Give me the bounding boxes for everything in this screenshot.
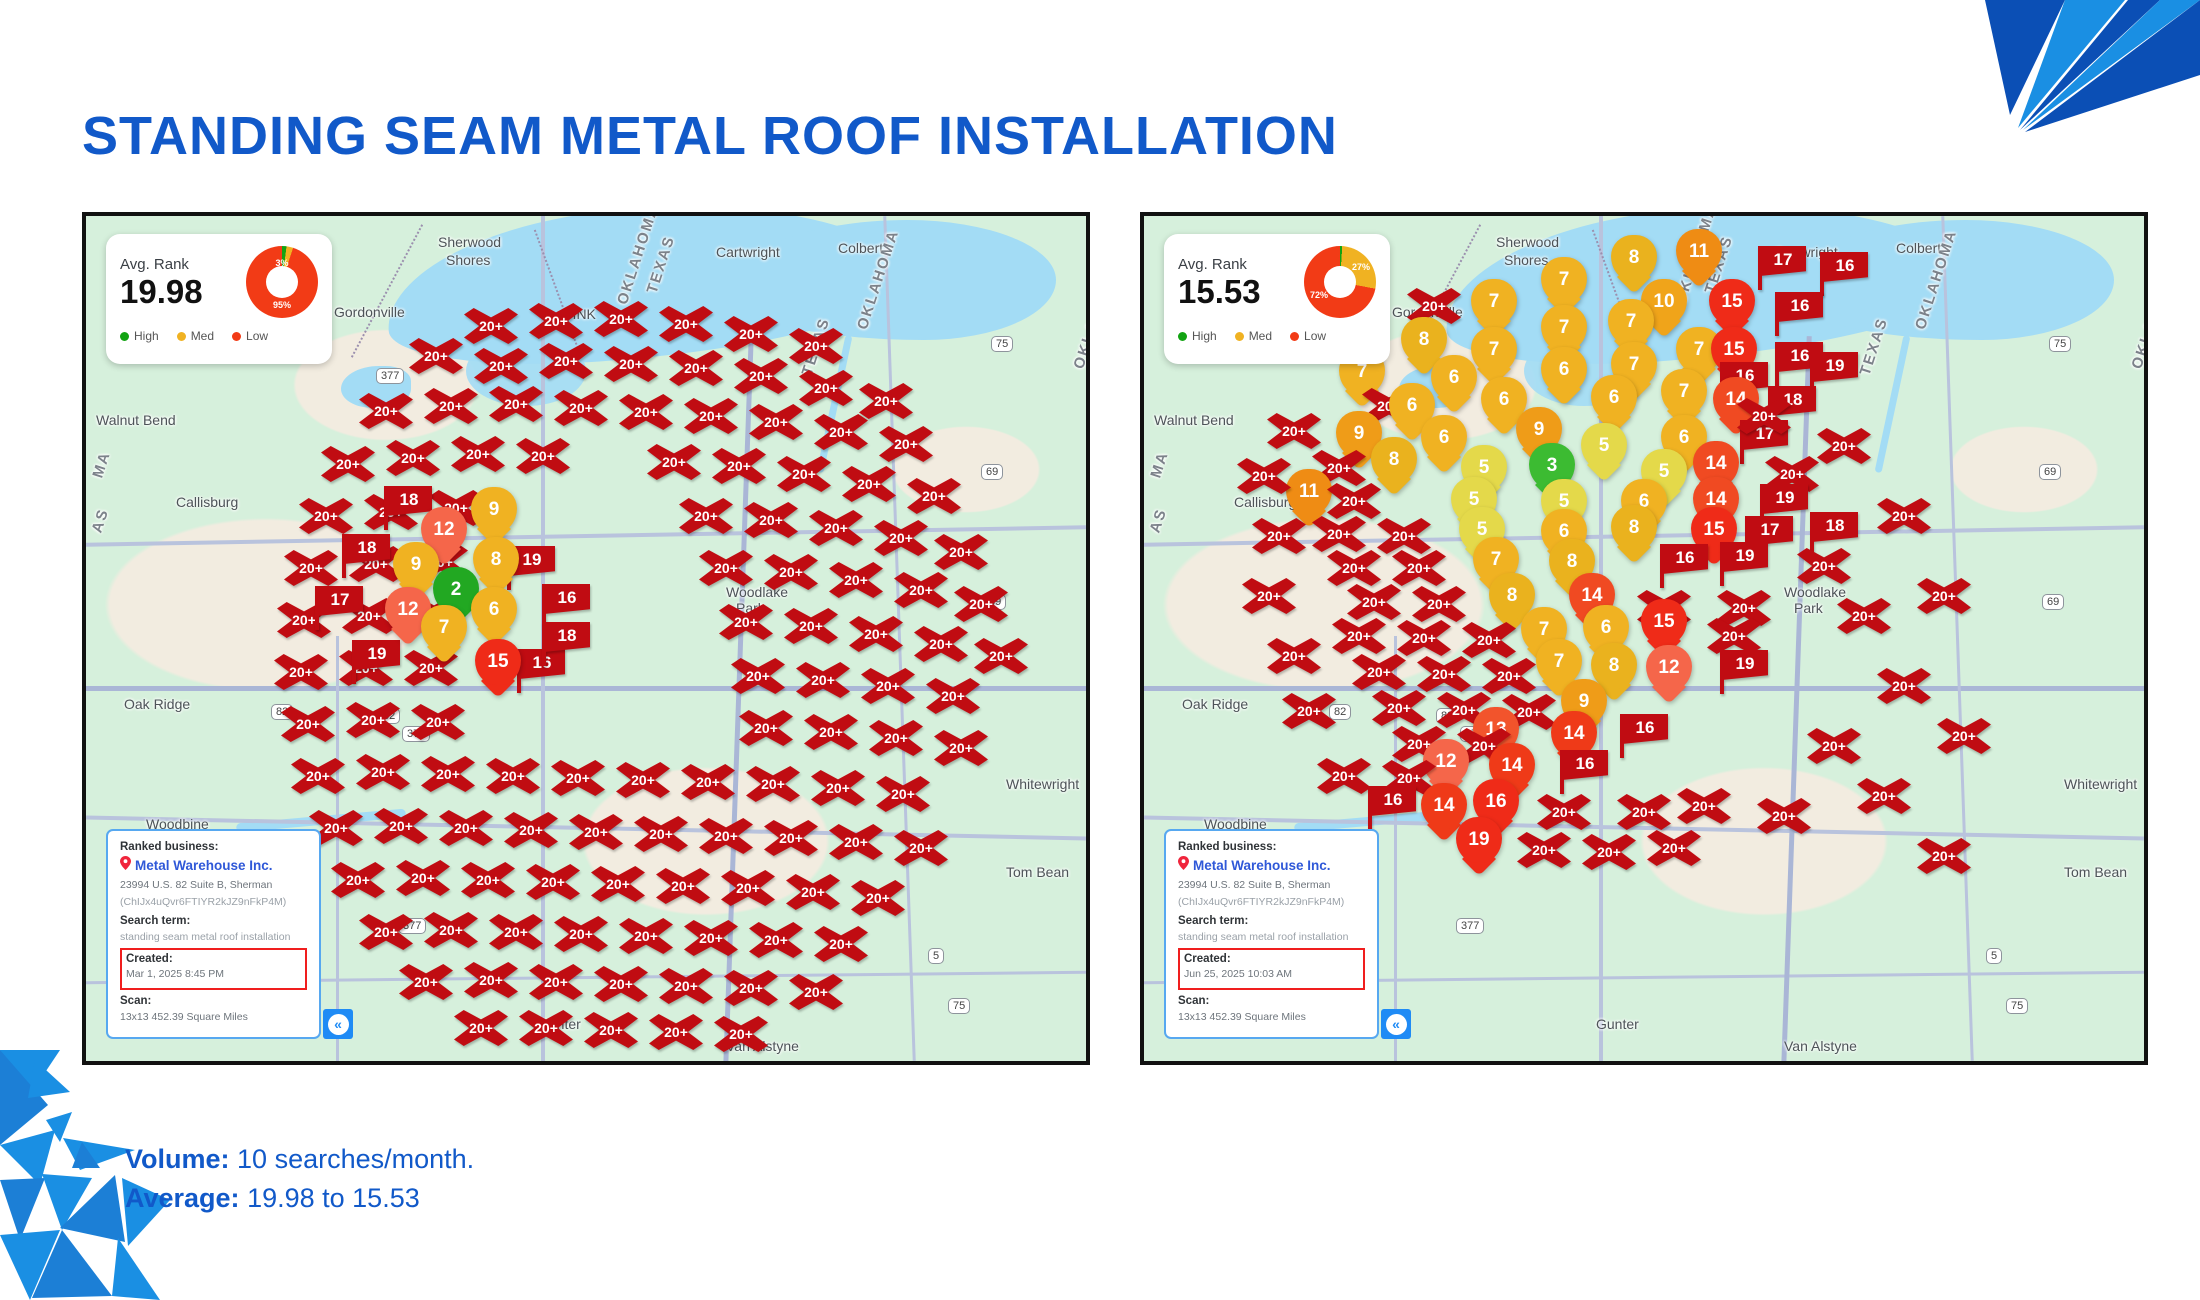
map-marker-beyond-top20[interactable]: 20+: [526, 864, 580, 900]
map-marker-flag[interactable]: 18: [540, 622, 592, 666]
map-marker-beyond-top20[interactable]: 20+: [1417, 656, 1471, 692]
collapse-panel-button[interactable]: «: [323, 1009, 353, 1039]
map-marker-beyond-top20[interactable]: 20+: [331, 862, 385, 898]
map-marker-beyond-top20[interactable]: 20+: [907, 478, 961, 514]
marker-value: 20+: [489, 358, 513, 374]
marker-value: 20+: [884, 730, 908, 746]
map-marker-beyond-top20[interactable]: 20+: [1917, 578, 1971, 614]
map-marker-beyond-top20[interactable]: 20+: [829, 824, 883, 860]
marker-value: 20+: [414, 974, 438, 990]
map-marker-beyond-top20[interactable]: 20+: [1817, 428, 1871, 464]
map-marker-beyond-top20[interactable]: 20+: [669, 350, 723, 386]
map-marker-rank-pin[interactable]: 12: [1646, 645, 1692, 703]
road: [1941, 216, 1973, 1061]
map-marker-beyond-top20[interactable]: 20+: [799, 370, 853, 406]
map-marker-beyond-top20[interactable]: 20+: [724, 316, 778, 352]
marker-value: 7: [1661, 369, 1707, 415]
map-marker-beyond-top20[interactable]: 20+: [1397, 620, 1451, 656]
map-marker-rank-pin[interactable]: 6: [1431, 355, 1477, 413]
created-label: Created:: [126, 953, 301, 965]
marker-value: 20+: [1932, 588, 1956, 604]
map-marker-flag[interactable]: 19: [1718, 542, 1770, 586]
map-marker-rank-pin[interactable]: 6: [1541, 347, 1587, 405]
map-marker-flag[interactable]: 16: [1818, 252, 1870, 296]
map-place-label: Tom Bean: [1006, 864, 1069, 880]
map-marker-beyond-top20[interactable]: 20+: [1857, 778, 1911, 814]
map-marker-beyond-top20[interactable]: 20+: [804, 714, 858, 750]
marker-value: 20+: [1722, 628, 1746, 644]
marker-value: 19: [1736, 546, 1755, 566]
marker-value: 20+: [1257, 588, 1281, 604]
map-marker-beyond-top20[interactable]: 20+: [291, 758, 345, 794]
map-marker-beyond-top20[interactable]: 20+: [714, 1016, 768, 1052]
map-marker-beyond-top20[interactable]: 20+: [1647, 830, 1701, 866]
map-marker-beyond-top20[interactable]: 20+: [1282, 693, 1336, 729]
map-marker-beyond-top20[interactable]: 20+: [281, 706, 335, 742]
map-marker-beyond-top20[interactable]: 20+: [1377, 518, 1431, 554]
avg-rank-card: Avg. Rank 19.98 3% 95% High Med Low: [106, 234, 332, 364]
map-marker-beyond-top20[interactable]: 20+: [1877, 668, 1931, 704]
map-marker-beyond-top20[interactable]: 20+: [869, 720, 923, 756]
marker-value: 20+: [606, 876, 630, 892]
map-marker-beyond-top20[interactable]: 20+: [396, 860, 450, 896]
map-marker-beyond-top20[interactable]: 20+: [829, 562, 883, 598]
marker-value: 20+: [826, 780, 850, 796]
map-marker-beyond-top20[interactable]: 20+: [721, 870, 775, 906]
business-place-id: (ChIJx4uQvr6FTIYR2kJZ9nFkP4M): [1178, 895, 1365, 910]
map-marker-beyond-top20[interactable]: 20+: [954, 586, 1008, 622]
map-marker-flag[interactable]: 16: [1558, 750, 1610, 794]
map-marker-beyond-top20[interactable]: 20+: [439, 810, 493, 846]
map-marker-beyond-top20[interactable]: 20+: [616, 762, 670, 798]
marker-value: 20+: [296, 716, 320, 732]
flag-icon: 16: [1777, 292, 1823, 322]
created-highlight-box: Created: Mar 1, 2025 8:45 PM: [120, 948, 307, 990]
marker-value: 7: [1471, 327, 1517, 373]
map-marker-flag[interactable]: 17: [1756, 246, 1808, 290]
map-marker-beyond-top20[interactable]: 20+: [346, 702, 400, 738]
page-title: STANDING SEAM METAL ROOF INSTALLATION: [82, 105, 1338, 167]
marker-value: 20+: [799, 618, 823, 634]
map-marker-rank-pin[interactable]: 8: [1611, 505, 1657, 563]
map-marker-beyond-top20[interactable]: 20+: [399, 964, 453, 1000]
marker-value: 20+: [874, 393, 898, 409]
marker-value: 20+: [876, 678, 900, 694]
map-place-label: Oak Ridge: [1182, 696, 1248, 712]
map-marker-beyond-top20[interactable]: 20+: [359, 393, 413, 429]
map-marker-rank-pin[interactable]: 6: [471, 587, 517, 645]
business-row[interactable]: Metal Warehouse Inc.: [1178, 856, 1365, 875]
map-marker-beyond-top20[interactable]: 20+: [299, 498, 353, 534]
marker-value: 20+: [1892, 508, 1916, 524]
legend-item-low: Low: [1290, 329, 1326, 343]
map-marker-beyond-top20[interactable]: 20+: [1757, 798, 1811, 834]
map-marker-beyond-top20[interactable]: 20+: [1737, 398, 1791, 434]
map-marker-beyond-top20[interactable]: 20+: [809, 510, 863, 546]
map-marker-beyond-top20[interactable]: 20+: [814, 414, 868, 450]
marker-value: 20+: [649, 826, 673, 842]
collapse-panel-button[interactable]: «: [1381, 1009, 1411, 1039]
map-marker-beyond-top20[interactable]: 20+: [421, 756, 475, 792]
road: [1144, 686, 2144, 691]
map-marker-beyond-top20[interactable]: 20+: [321, 446, 375, 482]
map-marker-beyond-top20[interactable]: 20+: [724, 970, 778, 1006]
marker-value: 20+: [374, 924, 398, 940]
created-value: Mar 1, 2025 8:45 PM: [126, 967, 301, 982]
marker-value: 8: [1611, 235, 1657, 281]
legend-label-med: Med: [1249, 329, 1272, 343]
legend-dot-low: [232, 332, 241, 341]
map-marker-beyond-top20[interactable]: 20+: [411, 704, 465, 740]
map-marker-beyond-top20[interactable]: 20+: [784, 608, 838, 644]
marker-value: 20+: [1892, 678, 1916, 694]
map-marker-beyond-top20[interactable]: 20+: [359, 914, 413, 950]
map-marker-beyond-top20[interactable]: 20+: [454, 1010, 508, 1046]
map-marker-beyond-top20[interactable]: 20+: [861, 668, 915, 704]
route-shield: 75: [991, 336, 1013, 352]
map-marker-beyond-top20[interactable]: 20+: [1462, 622, 1516, 658]
legend-dot-low: [1290, 332, 1299, 341]
map-marker-beyond-top20[interactable]: 20+: [356, 754, 410, 790]
marker-value: 20+: [439, 398, 463, 414]
map-marker-flag[interactable]: 19: [350, 640, 402, 684]
map-marker-beyond-top20[interactable]: 20+: [594, 301, 648, 337]
map-panel-before[interactable]: SherwoodShoresCartwrightColbertGordonvil…: [82, 212, 1090, 1065]
marker-value: 20+: [389, 818, 413, 834]
map-marker-beyond-top20[interactable]: 20+: [789, 974, 843, 1010]
road: [336, 636, 339, 1061]
map-marker-beyond-top20[interactable]: 20+: [974, 638, 1028, 674]
map-marker-beyond-top20[interactable]: 20+: [746, 766, 800, 802]
marker-value: 16: [1676, 548, 1695, 568]
map-marker-beyond-top20[interactable]: 20+: [516, 438, 570, 474]
map-marker-beyond-top20[interactable]: 20+: [679, 498, 733, 534]
map-marker-beyond-top20[interactable]: 20+: [1267, 413, 1321, 449]
map-marker-beyond-top20[interactable]: 20+: [591, 866, 645, 902]
map-marker-beyond-top20[interactable]: 20+: [1877, 498, 1931, 534]
marker-value: 20+: [1392, 528, 1416, 544]
map-marker-beyond-top20[interactable]: 20+: [1242, 578, 1296, 614]
marker-value: 20+: [479, 972, 503, 988]
map-marker-rank-pin[interactable]: 15: [475, 639, 521, 697]
map-marker-beyond-top20[interactable]: 20+: [529, 303, 583, 339]
map-marker-beyond-top20[interactable]: 20+: [1807, 728, 1861, 764]
marker-value: 20+: [734, 614, 758, 630]
map-marker-beyond-top20[interactable]: 20+: [554, 390, 608, 426]
marker-value: 20+: [411, 870, 435, 886]
map-marker-beyond-top20[interactable]: 20+: [934, 730, 988, 766]
map-marker-flag[interactable]: 19: [1718, 650, 1770, 694]
business-name[interactable]: Metal Warehouse Inc.: [1193, 858, 1331, 873]
marker-value: 20+: [1477, 632, 1501, 648]
marker-value: 18: [400, 490, 419, 510]
marker-value: 20+: [1412, 630, 1436, 646]
map-place-label: Gordonville: [334, 304, 405, 320]
map-marker-beyond-top20[interactable]: 20+: [569, 814, 623, 850]
map-marker-beyond-top20[interactable]: 20+: [634, 816, 688, 852]
route-shield: 75: [2049, 336, 2071, 352]
map-marker-beyond-top20[interactable]: 20+: [284, 550, 338, 586]
business-name[interactable]: Metal Warehouse Inc.: [135, 858, 273, 873]
route-shield: 75: [948, 998, 970, 1014]
search-term-label: Search term:: [120, 915, 307, 927]
marker-value: 20+: [662, 454, 686, 470]
marker-value: 20+: [894, 436, 918, 452]
map-marker-flag[interactable]: 18: [340, 534, 392, 578]
map-marker-beyond-top20[interactable]: 20+: [551, 760, 605, 796]
legend-label-high: High: [1192, 329, 1217, 343]
flag-icon: 19: [1812, 352, 1858, 382]
map-marker-beyond-top20[interactable]: 20+: [554, 916, 608, 952]
map-marker-beyond-top20[interactable]: 20+: [1392, 550, 1446, 586]
map-marker-beyond-top20[interactable]: 20+: [894, 572, 948, 608]
map-marker-beyond-top20[interactable]: 20+: [1237, 458, 1291, 494]
marker-value: 20+: [761, 776, 785, 792]
marker-value: 20+: [401, 450, 425, 466]
map-marker-beyond-top20[interactable]: 20+: [1317, 758, 1371, 794]
map-marker-beyond-top20[interactable]: 20+: [811, 770, 865, 806]
map-marker-beyond-top20[interactable]: 20+: [424, 912, 478, 948]
marker-value: 15: [1709, 279, 1755, 325]
map-marker-beyond-top20[interactable]: 20+: [584, 1012, 638, 1048]
marker-value: 20+: [1532, 842, 1556, 858]
map-marker-beyond-top20[interactable]: 20+: [1352, 654, 1406, 690]
map-marker-beyond-top20[interactable]: 20+: [659, 306, 713, 342]
map-marker-beyond-top20[interactable]: 20+: [934, 534, 988, 570]
marker-value: 16: [1636, 718, 1655, 738]
map-marker-beyond-top20[interactable]: 20+: [684, 398, 738, 434]
map-marker-beyond-top20[interactable]: 20+: [876, 776, 930, 812]
marker-value: 20+: [454, 820, 478, 836]
marker-value: 20+: [949, 544, 973, 560]
map-marker-beyond-top20[interactable]: 20+: [649, 1014, 703, 1050]
map-marker-beyond-top20[interactable]: 20+: [464, 308, 518, 344]
map-panel-after[interactable]: SherwoodShoresCartwrightColbertGordonvil…: [1140, 212, 2148, 1065]
legend-item-med: Med: [1235, 329, 1272, 343]
map-marker-beyond-top20[interactable]: 20+: [681, 764, 735, 800]
map-marker-beyond-top20[interactable]: 20+: [529, 964, 583, 1000]
map-marker-beyond-top20[interactable]: 20+: [1482, 658, 1536, 694]
map-marker-beyond-top20[interactable]: 20+: [409, 338, 463, 374]
map-marker-beyond-top20[interactable]: 20+: [749, 922, 803, 958]
route-shield: 69: [2042, 594, 2064, 610]
marker-value: 20+: [436, 766, 460, 782]
marker-value: 20+: [891, 786, 915, 802]
marker-value: 16: [1791, 346, 1810, 366]
map-marker-beyond-top20[interactable]: 20+: [699, 818, 753, 854]
map-marker-beyond-top20[interactable]: 20+: [764, 820, 818, 856]
map-place-label: Van Alstyne: [1784, 1038, 1857, 1054]
map-place-label: Tom Bean: [2064, 864, 2127, 880]
marker-value: 20+: [1812, 558, 1836, 574]
map-marker-beyond-top20[interactable]: 20+: [461, 862, 515, 898]
marker-value: 5: [1581, 423, 1627, 469]
map-marker-beyond-top20[interactable]: 20+: [489, 386, 543, 422]
map-marker-beyond-top20[interactable]: 20+: [1707, 618, 1761, 654]
map-marker-beyond-top20[interactable]: 20+: [619, 394, 673, 430]
map-marker-beyond-top20[interactable]: 20+: [489, 914, 543, 950]
marker-value: 20+: [466, 446, 490, 462]
map-marker-beyond-top20[interactable]: 20+: [464, 962, 518, 998]
flag-icon: 16: [1370, 786, 1416, 816]
map-marker-rank-pin[interactable]: 7: [421, 605, 467, 663]
marker-value: 20+: [727, 458, 751, 474]
map-marker-beyond-top20[interactable]: 20+: [451, 436, 505, 472]
marker-value: 20+: [1342, 493, 1366, 509]
map-marker-beyond-top20[interactable]: 20+: [926, 678, 980, 714]
marker-value: 20+: [819, 724, 843, 740]
flag-icon: 16: [1562, 750, 1608, 780]
map-marker-beyond-top20[interactable]: 20+: [1412, 586, 1466, 622]
map-marker-beyond-top20[interactable]: 20+: [604, 346, 658, 382]
map-marker-flag[interactable]: 16: [1773, 292, 1825, 336]
map-marker-beyond-top20[interactable]: 20+: [749, 404, 803, 440]
marker-value: 17: [1761, 520, 1780, 540]
map-marker-beyond-top20[interactable]: 20+: [914, 626, 968, 662]
map-marker-beyond-top20[interactable]: 20+: [1617, 794, 1671, 830]
donut-low-pct: 72%: [1310, 290, 1328, 300]
marker-value: 20+: [566, 770, 590, 786]
map-marker-beyond-top20[interactable]: 20+: [474, 348, 528, 384]
marker-value: 11: [1676, 229, 1722, 275]
map-marker-flag[interactable]: 16: [1366, 786, 1418, 830]
map-marker-beyond-top20[interactable]: 20+: [1917, 838, 1971, 874]
marker-value: 20+: [531, 448, 555, 464]
map-marker-flag[interactable]: 16: [1658, 544, 1710, 588]
map-marker-beyond-top20[interactable]: 20+: [504, 812, 558, 848]
marker-value: 20+: [346, 872, 370, 888]
marker-value: 20+: [619, 356, 643, 372]
marker-value: 7: [421, 605, 467, 651]
map-marker-beyond-top20[interactable]: 20+: [699, 550, 753, 586]
map-marker-beyond-top20[interactable]: 20+: [1582, 834, 1636, 870]
map-marker-beyond-top20[interactable]: 20+: [744, 502, 798, 538]
marker-value: 20+: [299, 560, 323, 576]
flag-icon: 18: [1812, 512, 1858, 542]
map-marker-beyond-top20[interactable]: 20+: [814, 926, 868, 962]
scan-label: Scan:: [1178, 995, 1365, 1007]
map-marker-beyond-top20[interactable]: 20+: [594, 966, 648, 1002]
map-marker-beyond-top20[interactable]: 20+: [539, 343, 593, 379]
map-marker-beyond-top20[interactable]: 20+: [731, 658, 785, 694]
map-marker-beyond-top20[interactable]: 20+: [734, 358, 788, 394]
ranked-business-label: Ranked business:: [120, 841, 307, 853]
map-marker-beyond-top20[interactable]: 20+: [1332, 618, 1386, 654]
marker-value: 20+: [569, 926, 593, 942]
map-marker-beyond-top20[interactable]: 20+: [659, 968, 713, 1004]
donut-med-pct: 3%: [275, 258, 288, 268]
map-marker-flag[interactable]: 16: [1618, 714, 1670, 758]
map-marker-beyond-top20[interactable]: 20+: [851, 880, 905, 916]
map-marker-beyond-top20[interactable]: 20+: [619, 918, 673, 954]
map-marker-beyond-top20[interactable]: 20+: [1837, 598, 1891, 634]
map-marker-beyond-top20[interactable]: 20+: [849, 616, 903, 652]
map-marker-beyond-top20[interactable]: 20+: [1517, 832, 1571, 868]
map-place-label: Whitewright: [2064, 776, 2137, 792]
legend-dot-high: [120, 332, 129, 341]
map-marker-beyond-top20[interactable]: 20+: [712, 448, 766, 484]
avg-rank-card: Avg. Rank 15.53 27% 72% High Med Low: [1164, 234, 1390, 364]
map-marker-beyond-top20[interactable]: 20+: [424, 388, 478, 424]
marker-value: 20+: [1732, 600, 1756, 616]
marker-value: 20+: [1267, 528, 1291, 544]
map-marker-beyond-top20[interactable]: 20+: [486, 758, 540, 794]
map-marker-beyond-top20[interactable]: 20+: [1327, 550, 1381, 586]
map-marker-beyond-top20[interactable]: 20+: [719, 604, 773, 640]
map-marker-beyond-top20[interactable]: 20+: [764, 554, 818, 590]
legend-item-high: High: [120, 329, 159, 343]
legend-label-low: Low: [1304, 329, 1326, 343]
marker-value: 20+: [909, 840, 933, 856]
map-place-label: Shores: [446, 252, 490, 268]
map-place-label: Oak Ridge: [124, 696, 190, 712]
map-marker-beyond-top20[interactable]: 20+: [1537, 794, 1591, 830]
map-marker-beyond-top20[interactable]: 20+: [796, 662, 850, 698]
business-row[interactable]: Metal Warehouse Inc.: [120, 856, 307, 875]
map-marker-beyond-top20[interactable]: 20+: [1267, 638, 1321, 674]
marker-value: 20+: [754, 720, 778, 736]
map-marker-beyond-top20[interactable]: 20+: [842, 466, 896, 502]
marker-value: 20+: [519, 822, 543, 838]
map-marker-beyond-top20[interactable]: 20+: [656, 868, 710, 904]
marker-value: 20+: [824, 520, 848, 536]
map-marker-beyond-top20[interactable]: 20+: [1372, 690, 1426, 726]
map-marker-beyond-top20[interactable]: 20+: [274, 654, 328, 690]
marker-value: 20+: [699, 930, 723, 946]
map-place-label: Walnut Bend: [1154, 412, 1234, 428]
marker-value: 16: [558, 588, 577, 608]
marker-value: 11: [1286, 469, 1332, 515]
search-term-value: standing seam metal roof installation: [1178, 930, 1365, 945]
map-marker-beyond-top20[interactable]: 20+: [1327, 483, 1381, 519]
flag-icon: 19: [1722, 650, 1768, 680]
map-marker-beyond-top20[interactable]: 20+: [519, 1010, 573, 1046]
marker-value: 16: [1791, 296, 1810, 316]
map-marker-beyond-top20[interactable]: 20+: [1252, 518, 1306, 554]
map-marker-beyond-top20[interactable]: 20+: [374, 808, 428, 844]
marker-value: 17: [1774, 250, 1793, 270]
marker-value: 15: [475, 639, 521, 685]
map-state-label: MA: [89, 449, 114, 480]
map-marker-flag[interactable]: 17: [313, 586, 365, 630]
marker-value: 20+: [1332, 768, 1356, 784]
marker-value: 19: [1826, 356, 1845, 376]
map-marker-beyond-top20[interactable]: 20+: [874, 520, 928, 556]
marker-value: 20+: [694, 508, 718, 524]
marker-value: 20+: [699, 408, 723, 424]
map-marker-beyond-top20[interactable]: 20+: [647, 444, 701, 480]
legend-item-low: Low: [232, 329, 268, 343]
map-marker-beyond-top20[interactable]: 20+: [879, 426, 933, 462]
marker-value: 20+: [599, 1022, 623, 1038]
map-marker-beyond-top20[interactable]: 20+: [894, 830, 948, 866]
map-marker-beyond-top20[interactable]: 20+: [1937, 718, 1991, 754]
map-marker-beyond-top20[interactable]: 20+: [789, 328, 843, 364]
map-marker-beyond-top20[interactable]: 20+: [786, 874, 840, 910]
map-marker-beyond-top20[interactable]: 20+: [739, 710, 793, 746]
map-marker-beyond-top20[interactable]: 20+: [684, 920, 738, 956]
map-marker-rank-pin[interactable]: 5: [1581, 423, 1627, 481]
map-marker-beyond-top20[interactable]: 20+: [777, 456, 831, 492]
map-marker-rank-pin[interactable]: 19: [1456, 817, 1502, 875]
map-marker-beyond-top20[interactable]: 20+: [1312, 516, 1366, 552]
map-marker-beyond-top20[interactable]: 20+: [1347, 584, 1401, 620]
map-marker-beyond-top20[interactable]: 20+: [1797, 548, 1851, 584]
map-marker-beyond-top20[interactable]: 20+: [1677, 788, 1731, 824]
marker-value: 20+: [844, 834, 868, 850]
scan-value: 13x13 452.39 Square Miles: [1178, 1010, 1365, 1025]
map-marker-beyond-top20[interactable]: 20+: [386, 440, 440, 476]
